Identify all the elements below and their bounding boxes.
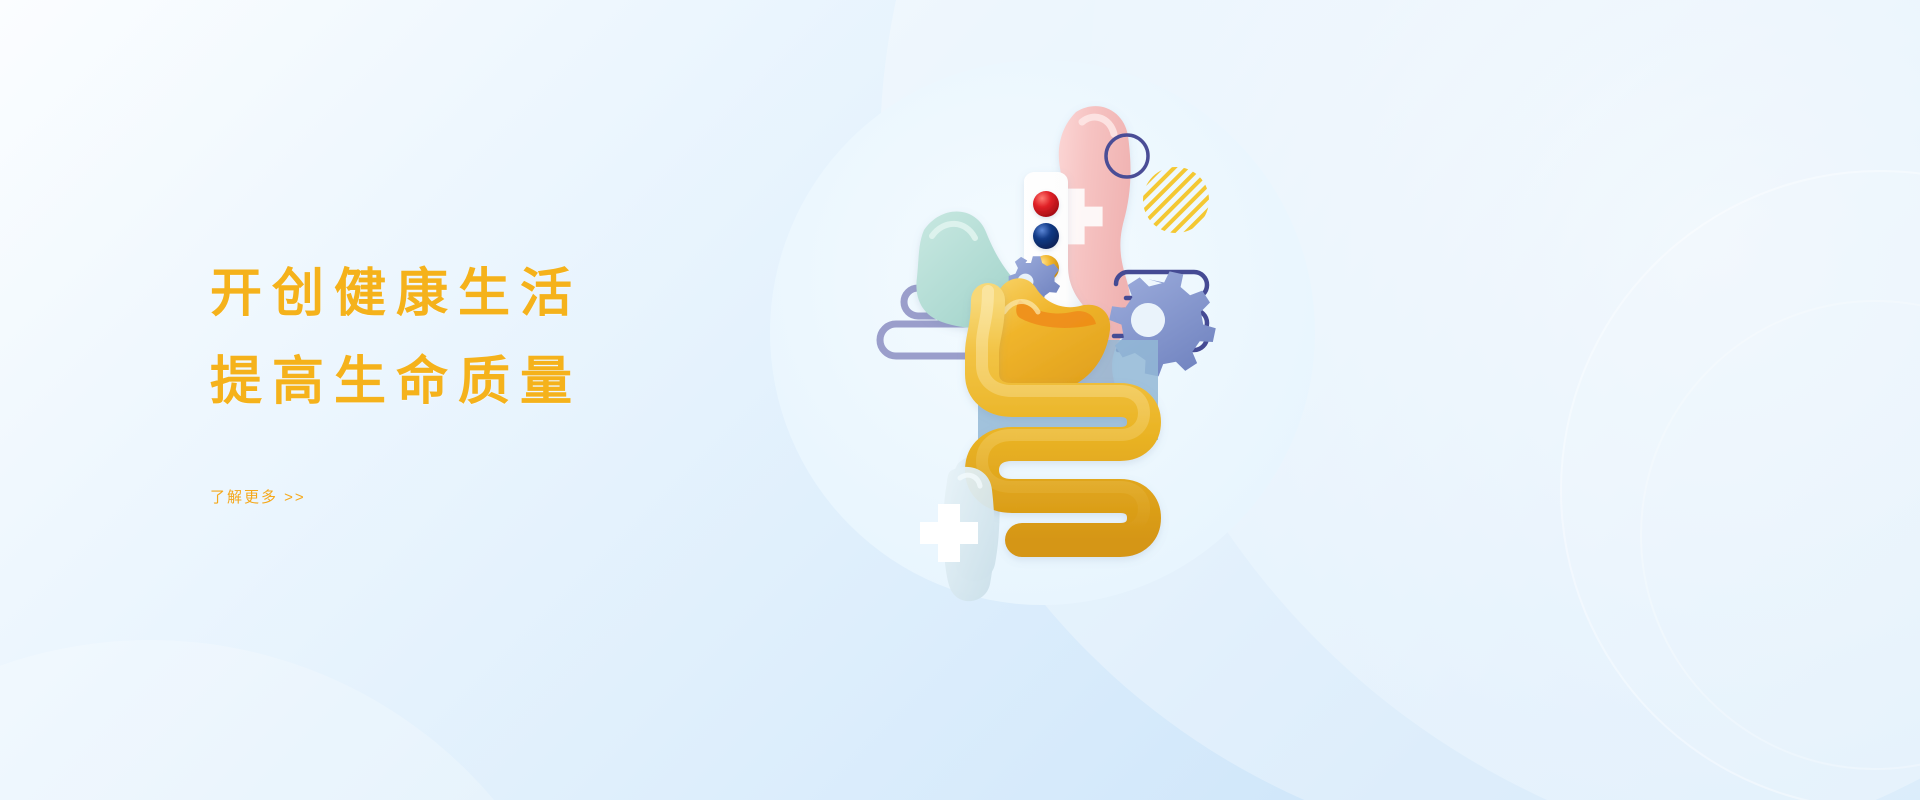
digestive-system-illustration xyxy=(770,60,1315,620)
background-ring-right-inner xyxy=(1640,300,1920,770)
bead-red xyxy=(1033,191,1059,217)
background-blob-bottom-left xyxy=(0,640,600,800)
learn-more-link[interactable]: 了解更多 >> xyxy=(210,486,306,507)
bead-navy xyxy=(1033,223,1059,249)
background-ring-right-outer xyxy=(1560,170,1920,800)
striped-circle-decoration xyxy=(1143,167,1209,233)
illustration-svg xyxy=(770,60,1315,620)
hero-banner: 开创健康生活 提高生命质量 了解更多 >> xyxy=(0,0,1920,800)
